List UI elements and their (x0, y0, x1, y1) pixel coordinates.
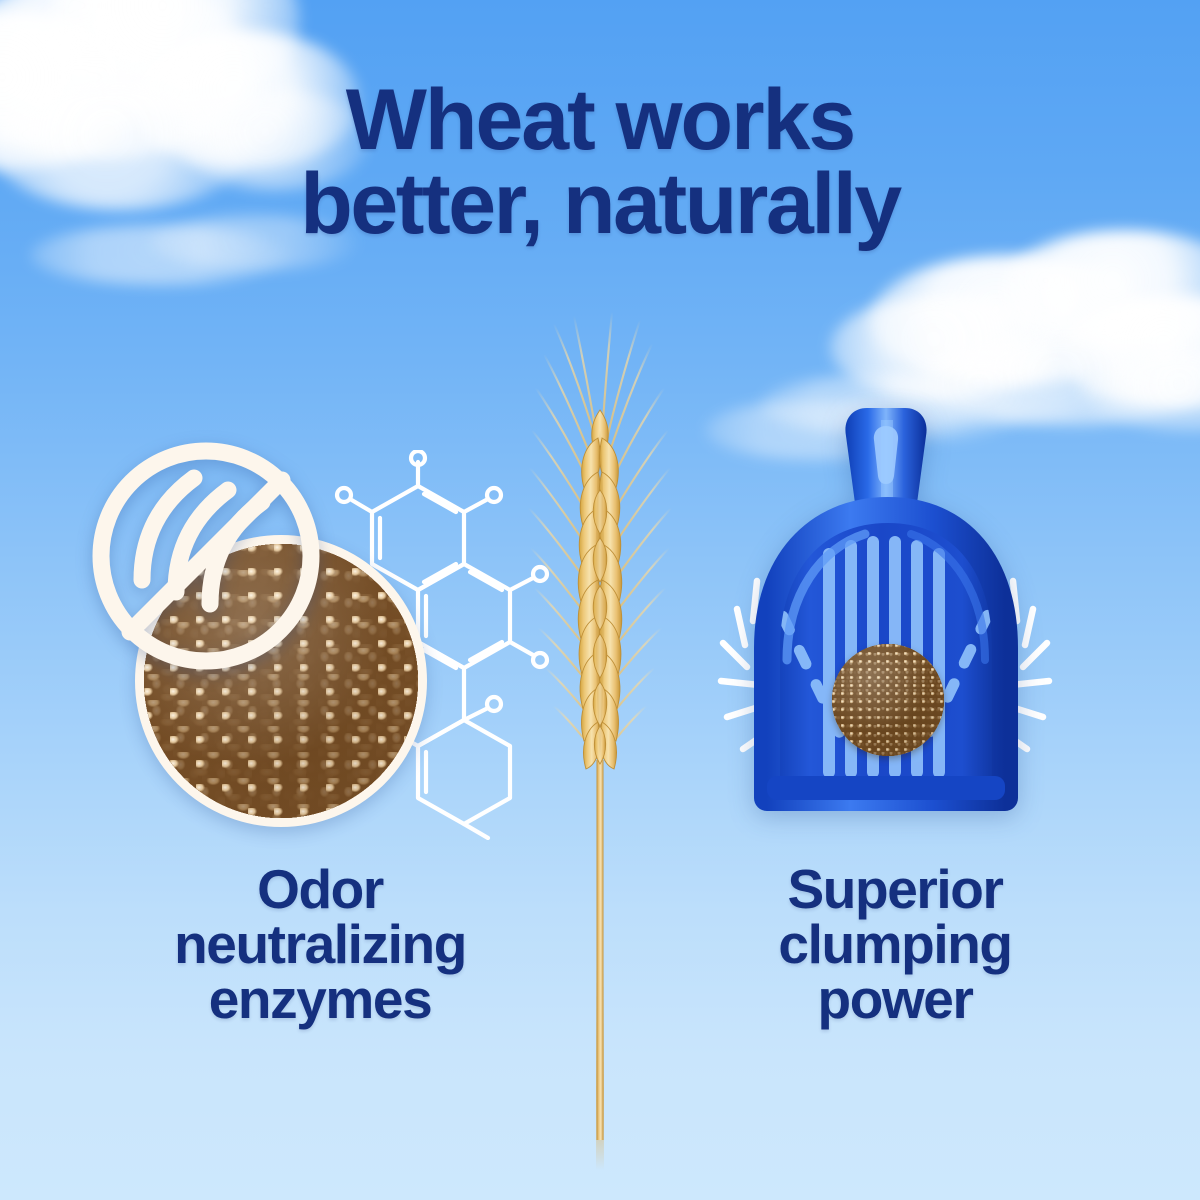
litter-clump (832, 644, 944, 756)
page-title: Wheat works better, naturally (0, 78, 1200, 246)
feature-caption-odor: Odor neutralizing enzymes (60, 862, 580, 1027)
caption-clumping-line-1: Superior (645, 862, 1145, 917)
feature-visual-clumping (715, 398, 1055, 818)
caption-odor-line-2: neutralizing (60, 917, 580, 972)
no-odor-icon (90, 440, 322, 672)
clump-texture (832, 644, 944, 756)
wheat-stalk-image (500, 290, 700, 1170)
headline-line-1: Wheat works (0, 78, 1200, 162)
caption-odor-line-3: enzymes (60, 972, 580, 1027)
marketing-banner: Wheat works better, naturally (0, 0, 1200, 1200)
feature-caption-clumping: Superior clumping power (645, 862, 1145, 1027)
caption-clumping-line-3: power (645, 972, 1145, 1027)
headline-line-2: better, naturally (0, 162, 1200, 246)
feature-visual-odor (90, 440, 540, 840)
caption-clumping-line-2: clumping (645, 917, 1145, 972)
caption-odor-line-1: Odor (60, 862, 580, 917)
